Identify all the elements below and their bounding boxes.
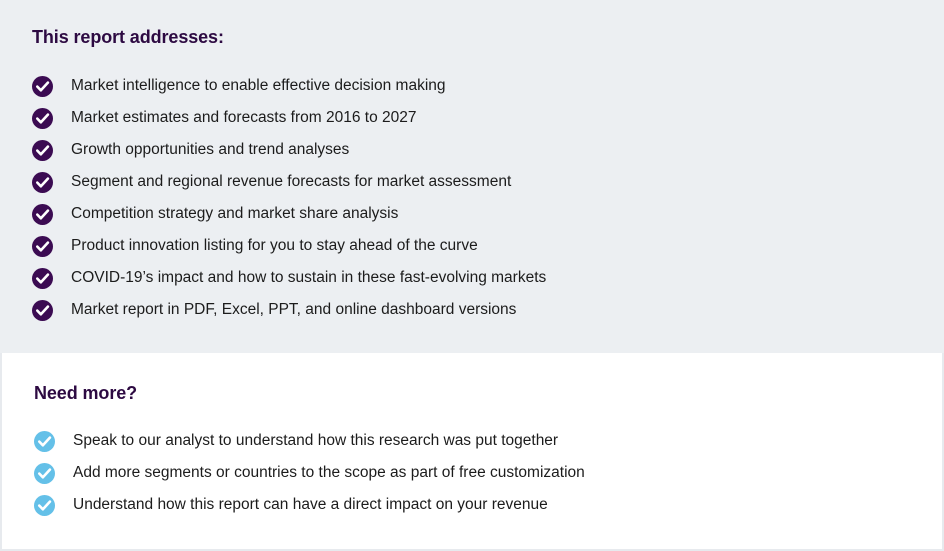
need-more-list: Speak to our analyst to understand how t… — [2, 425, 942, 521]
report-info-panel: This report addresses: Market intelligen… — [0, 0, 944, 551]
need-more-heading: Need more? — [34, 383, 942, 404]
report-addresses-heading: This report addresses: — [32, 27, 944, 48]
list-item-label: Speak to our analyst to understand how t… — [73, 433, 558, 449]
list-item-label: COVID-19’s impact and how to sustain in … — [71, 270, 546, 286]
need-more-section: Need more? Speak to our analyst to under… — [0, 353, 944, 551]
check-circle-icon — [32, 300, 53, 321]
list-item: COVID-19’s impact and how to sustain in … — [0, 262, 944, 294]
list-item: Understand how this report can have a di… — [2, 489, 942, 521]
list-item-label: Segment and regional revenue forecasts f… — [71, 174, 511, 190]
check-circle-icon — [32, 76, 53, 97]
list-item-label: Product innovation listing for you to st… — [71, 238, 478, 254]
check-circle-icon — [34, 463, 55, 484]
check-circle-icon — [32, 140, 53, 161]
check-circle-icon — [32, 236, 53, 257]
list-item-label: Competition strategy and market share an… — [71, 206, 398, 222]
list-item: Speak to our analyst to understand how t… — [2, 425, 942, 457]
check-circle-icon — [34, 495, 55, 516]
list-item-label: Add more segments or countries to the sc… — [73, 465, 585, 481]
report-addresses-list: Market intelligence to enable effective … — [0, 70, 944, 326]
list-item: Market report in PDF, Excel, PPT, and on… — [0, 294, 944, 326]
list-item-label: Understand how this report can have a di… — [73, 497, 548, 513]
list-item: Competition strategy and market share an… — [0, 198, 944, 230]
list-item-label: Market intelligence to enable effective … — [71, 78, 446, 94]
report-addresses-section: This report addresses: Market intelligen… — [0, 0, 944, 353]
check-circle-icon — [32, 268, 53, 289]
list-item-label: Market estimates and forecasts from 2016… — [71, 110, 416, 126]
list-item: Add more segments or countries to the sc… — [2, 457, 942, 489]
list-item: Market estimates and forecasts from 2016… — [0, 102, 944, 134]
check-circle-icon — [32, 108, 53, 129]
list-item: Growth opportunities and trend analyses — [0, 134, 944, 166]
list-item-label: Growth opportunities and trend analyses — [71, 142, 349, 158]
list-item: Segment and regional revenue forecasts f… — [0, 166, 944, 198]
check-circle-icon — [32, 172, 53, 193]
list-item: Market intelligence to enable effective … — [0, 70, 944, 102]
check-circle-icon — [32, 204, 53, 225]
check-circle-icon — [34, 431, 55, 452]
list-item: Product innovation listing for you to st… — [0, 230, 944, 262]
list-item-label: Market report in PDF, Excel, PPT, and on… — [71, 302, 516, 318]
